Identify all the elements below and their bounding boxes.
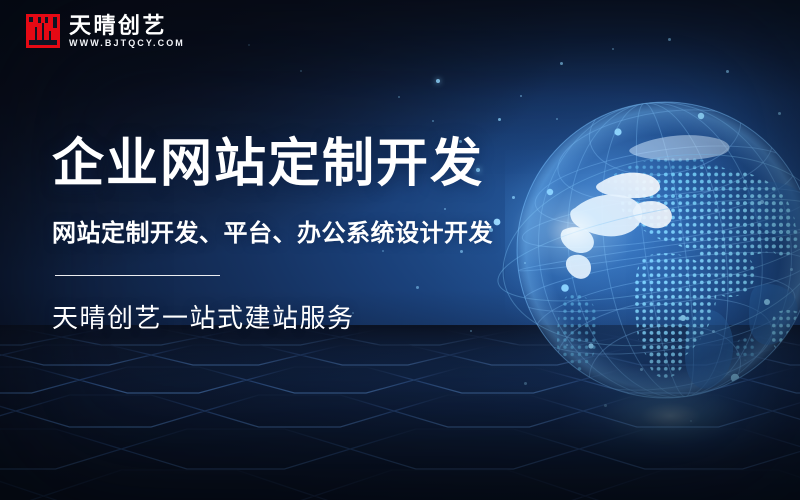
page-title: 企业网站定制开发 xyxy=(52,136,532,194)
copy-divider xyxy=(55,275,220,276)
promo-banner: 天晴创艺 WWW.BJTQCY.COM 企业网站定制开发 网站定制开发、平台、办… xyxy=(0,0,800,500)
logo-website-url: WWW.BJTQCY.COM xyxy=(69,39,185,48)
logo-company-name: 天晴创艺 xyxy=(69,15,185,37)
brand-logo[interactable]: 天晴创艺 WWW.BJTQCY.COM xyxy=(26,14,185,48)
logo-mark-icon xyxy=(26,14,60,48)
hero-copy-block: 企业网站定制开发 网站定制开发、平台、办公系统设计开发 天晴创艺一站式建站服务 xyxy=(52,136,532,334)
logo-text-block: 天晴创艺 WWW.BJTQCY.COM xyxy=(69,15,185,48)
hero-tagline: 天晴创艺一站式建站服务 xyxy=(52,303,532,334)
hero-subtitle: 网站定制开发、平台、办公系统设计开发 xyxy=(52,220,532,249)
